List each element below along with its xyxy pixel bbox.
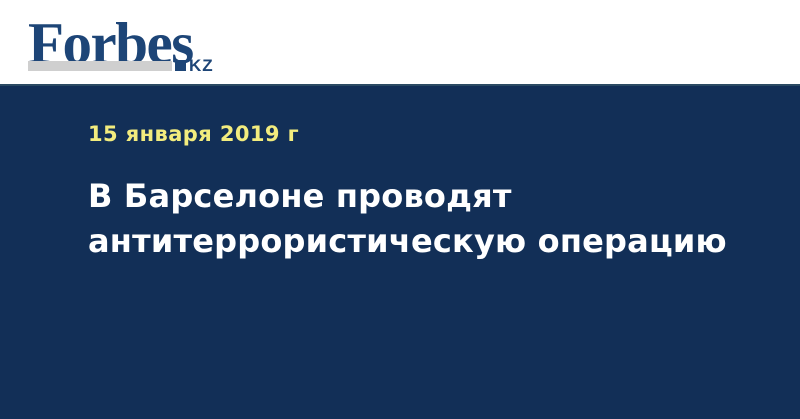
article-date: 15 января 2019 г: [88, 122, 760, 146]
forbes-kz-logo[interactable]: Forbes KZ: [28, 14, 258, 76]
article-hero: 15 января 2019 г В Барселоне проводят ан…: [0, 86, 800, 419]
site-header: Forbes KZ: [0, 0, 800, 85]
article-card: Forbes KZ 15 января 2019 г В Барселоне п…: [0, 0, 800, 419]
article-headline[interactable]: В Барселоне проводят антитеррористическу…: [88, 174, 748, 264]
hero-content: 15 января 2019 г В Барселоне проводят ан…: [88, 122, 760, 264]
logo-kz-suffix: KZ: [189, 57, 214, 74]
logo-gray-bar: [28, 61, 172, 71]
logo-square-icon: [175, 60, 186, 71]
